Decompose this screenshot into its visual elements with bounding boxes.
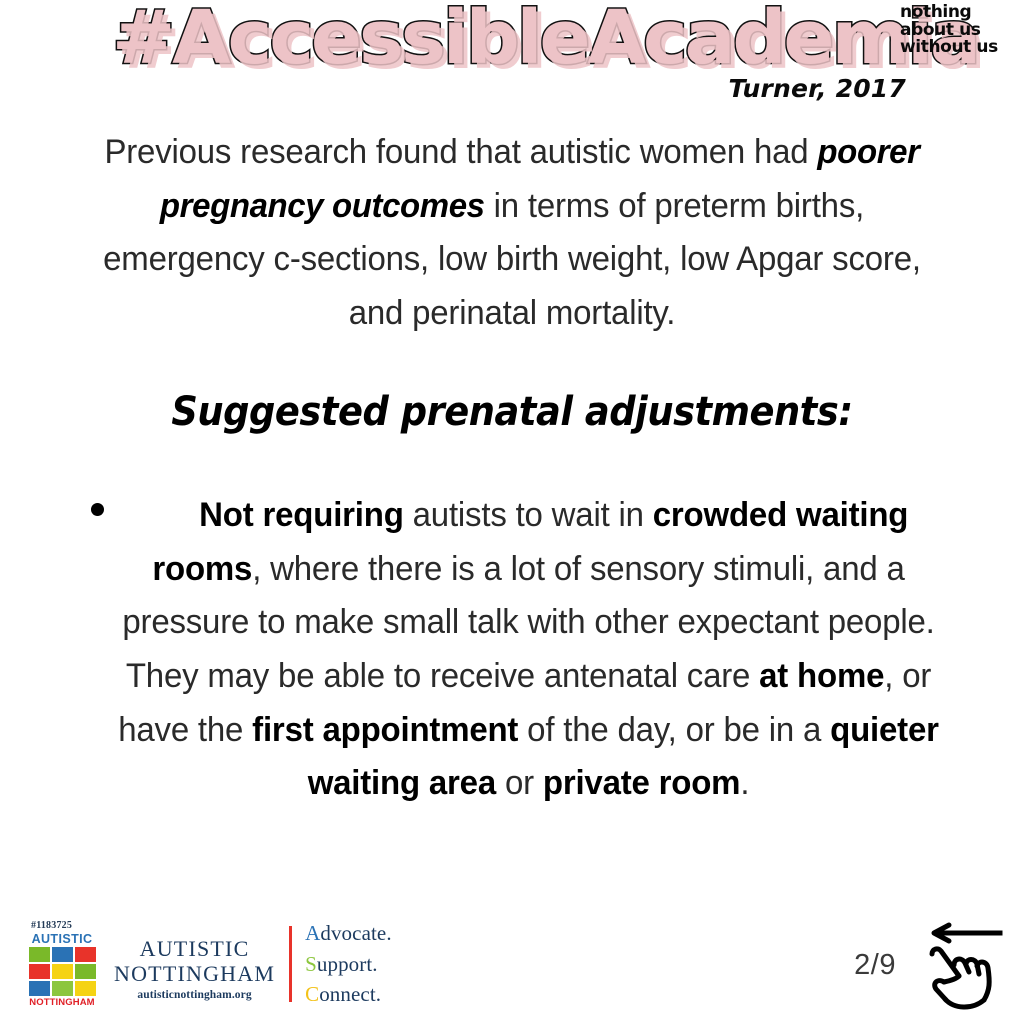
bullet-strong-5: at home (759, 657, 884, 695)
slogan-cap-s: S (305, 952, 317, 976)
slide-footer: #1183725 AUTISTIC NOTTINGHAM AUTISTIC NO… (0, 904, 1024, 1024)
tagline-line-1: nothing (900, 4, 1020, 22)
accessible-academia-logo: #AccessibleAcademia (112, 0, 978, 81)
brand-header: #AccessibleAcademia nothing about us wit… (0, 0, 1024, 118)
grid-cell-6 (75, 964, 96, 979)
slogan-rest-connect: onnect. (319, 982, 381, 1006)
logo-mark-word-bottom: NOTTINGHAM (29, 998, 94, 1008)
adjustments-list: Not requiring autists to wait in crowded… (70, 489, 954, 811)
wordmark-line-1: AUTISTIC (140, 937, 250, 962)
grid-cell-9 (75, 981, 96, 996)
grid-cell-8 (52, 981, 73, 996)
logo-mark-word-top: AUTISTIC (32, 933, 93, 946)
logo-color-grid (29, 947, 96, 996)
grid-cell-4 (29, 964, 50, 979)
slide-content: Previous research found that autistic wo… (70, 126, 954, 811)
page-indicator: 2/9 (854, 949, 896, 982)
logo-mark: #1183725 AUTISTIC NOTTINGHAM (26, 921, 98, 1008)
list-item: Not requiring autists to wait in crowded… (83, 489, 940, 811)
autistic-nottingham-logo: #1183725 AUTISTIC NOTTINGHAM AUTISTIC NO… (26, 918, 392, 1010)
intro-text-part-1: Previous research found that autistic wo… (104, 133, 817, 171)
grid-cell-1 (29, 947, 50, 962)
slogan-line-support: Support. (305, 949, 392, 979)
charity-number: #1183725 (26, 921, 72, 931)
grid-cell-7 (29, 981, 50, 996)
slogan-rest-advocate: dvocate. (320, 921, 391, 945)
intro-paragraph: Previous research found that autistic wo… (83, 126, 940, 341)
slogan-cap-a: A (305, 921, 320, 945)
logo-divider (289, 926, 292, 1002)
tagline: nothing about us without us (900, 4, 1020, 57)
citation: Turner, 2017 (728, 74, 906, 103)
grid-cell-2 (52, 947, 73, 962)
slogan-line-connect: Connect. (305, 979, 392, 1009)
bullet-text-12: . (740, 764, 749, 802)
bullet-text-8: of the day, or be in a (518, 711, 830, 749)
website-url: autisticnottingham.org (137, 989, 251, 1001)
bullet-strong-7: first appointment (252, 711, 518, 749)
tagline-line-3: without us (900, 39, 1020, 57)
bullet-strong-11: private room (543, 764, 740, 802)
wordmark-line-2: NOTTINGHAM (114, 962, 275, 987)
slogan-rest-support: upport. (317, 952, 378, 976)
swipe-left-hand-icon[interactable] (912, 920, 1008, 1016)
grid-cell-3 (75, 947, 96, 962)
bullet-strong-1: Not requiring (199, 496, 404, 534)
bullet-text-2: autists to wait in (404, 496, 653, 534)
slogan-line-advocate: Advocate. (305, 918, 392, 948)
grid-cell-5 (52, 964, 73, 979)
bullet-text-10: or (496, 764, 543, 802)
logo-wordmark: AUTISTIC NOTTINGHAM autisticnottingham.o… (114, 927, 275, 1001)
section-heading: Suggested prenatal adjustments: (105, 341, 918, 435)
logo-slogan: Advocate. Support. Connect. (305, 918, 392, 1009)
slogan-cap-c: C (305, 982, 319, 1006)
